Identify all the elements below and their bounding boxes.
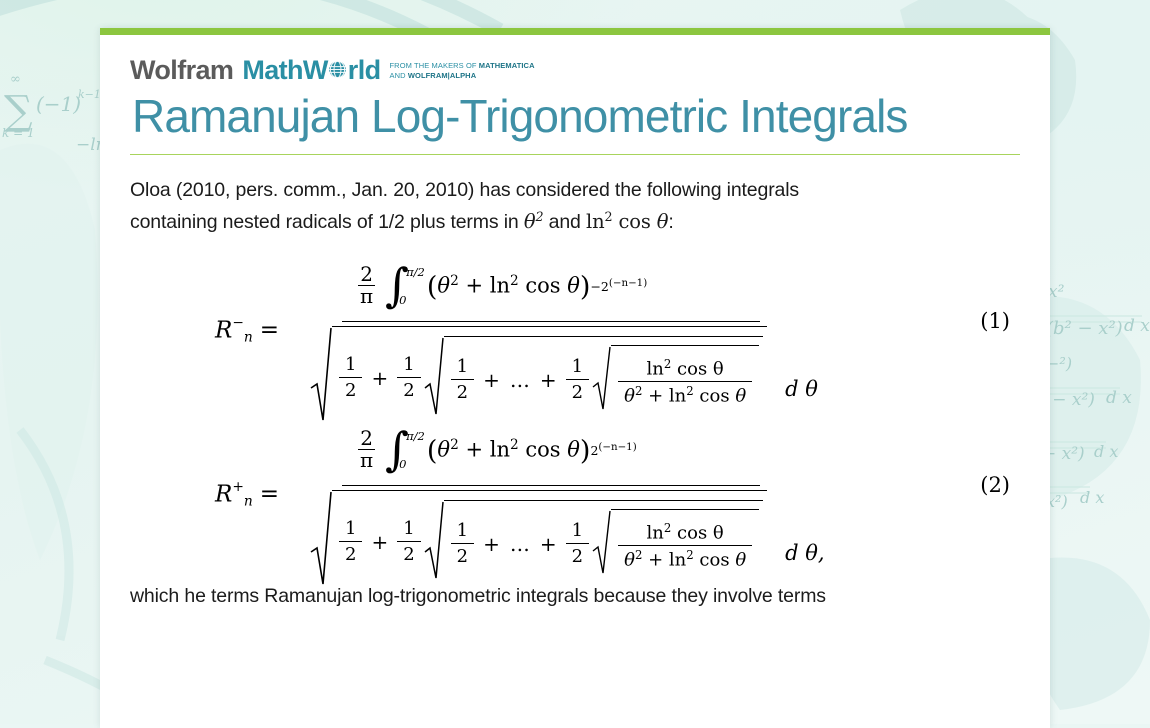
page-title: Ramanujan Log-Trigonometric Integrals <box>132 92 1020 142</box>
background-formula: d x <box>1094 442 1118 461</box>
equation-2-integrand: (θ2 + ln2 cos θ) <box>427 437 591 462</box>
background-formula: ∞ <box>10 72 21 87</box>
equation-2-fraction: 2 π ∫ π/2 0 (θ2 + ln2 cos θ)2(−n−1) <box>310 417 910 590</box>
background-formula: d x <box>1080 488 1104 507</box>
equation-1-subscript: n <box>244 329 253 345</box>
equation-1-prefactor: 2 π <box>358 264 375 307</box>
radical-outer: 12 + 12 <box>310 326 767 426</box>
equation-1-superscript: − <box>232 315 244 331</box>
half-4: 12 <box>566 356 589 403</box>
equation-2-numerator: 2 π ∫ π/2 0 (θ2 + ln2 cos θ)2(−n−1) <box>310 417 910 485</box>
equation-1-upper-limit: π/2 <box>406 265 425 279</box>
equation-2-prefactor: 2 π <box>358 428 375 471</box>
inner-ratio: ln2 cos θ θ2 + ln2 cos θ <box>618 521 752 571</box>
globe-icon <box>328 57 347 84</box>
intro-ln-squared-cos-theta: ln2 cos θ <box>586 210 668 233</box>
radical-sign-icon <box>424 336 444 420</box>
plus-2: + <box>483 532 500 556</box>
background-formula: k = 1 <box>2 126 35 140</box>
half-1: 12 <box>339 518 362 565</box>
background-formula: d x <box>1106 388 1132 408</box>
equation-2-superscript: + <box>232 479 244 495</box>
radical-middle: 12 + … + 12 <box>424 336 763 420</box>
intro-line-2-text-b: and <box>543 211 586 233</box>
equation-2-denominator: 12 + 12 <box>310 486 910 590</box>
intro-paragraph: Oloa (2010, pers. comm., Jan. 20, 2010) … <box>130 175 1020 239</box>
equation-1-exponent: −2(−n−1) <box>590 277 647 294</box>
plus-1: + <box>371 366 388 390</box>
equation-1-numerator: 2 π ∫ π/2 0 (θ2 + ln2 cos θ)−2(−n−1) <box>310 253 910 321</box>
tagline-line-1: From the makers of Mathematica <box>390 61 535 70</box>
inner-ratio: ln2 cos θ θ2 + ln2 cos θ <box>618 357 752 407</box>
radical-sign-icon <box>592 345 611 415</box>
half-1: 12 <box>339 354 362 401</box>
equation-1-integrand: (θ2 + ln2 cos θ) <box>427 273 591 298</box>
radical-sign-icon <box>592 509 611 579</box>
intro-line-2: containing nested radicals of 1/2 plus t… <box>130 206 1020 239</box>
equation-1-lower-limit: 0 <box>399 293 425 307</box>
wolfram-mathworld-logo[interactable]: Wolfram Math W rld From <box>130 35 1020 84</box>
background-formula: (b² − x²) <box>1046 318 1123 339</box>
equation-2-upper-limit: π/2 <box>406 429 425 443</box>
equation-1-nested-radical: 12 + 12 <box>310 326 910 426</box>
equation-2: R+n= 2 π ∫ π/2 0 (θ <box>130 417 1020 567</box>
plus-3: + <box>540 532 557 556</box>
half-2: 12 <box>397 354 420 401</box>
equation-2-lhs: R+n= <box>215 479 279 509</box>
ellipsis: … <box>510 532 530 556</box>
half-3: 12 <box>451 520 474 567</box>
equation-2-number: (2) <box>980 473 1010 497</box>
background-formula: x² <box>1048 282 1064 302</box>
equation-1-integral: ∫ π/2 0 <box>385 263 425 309</box>
radical-middle: 12 + … + 12 <box>424 500 763 584</box>
content-page: Wolfram Math W rld From <box>100 28 1050 728</box>
equation-2-integral: ∫ π/2 0 <box>385 427 425 473</box>
inner-ratio-numerator: ln2 cos θ <box>641 357 730 381</box>
background-formula: d x <box>1124 316 1150 336</box>
equation-2-exponent: 2(−n−1) <box>590 441 636 458</box>
ellipsis: … <box>510 368 530 392</box>
plus-1: + <box>371 530 388 554</box>
logo-math-text: Math <box>242 57 303 84</box>
inner-ratio-denominator: θ2 + ln2 cos θ <box>618 546 752 570</box>
radical-outer: 12 + 12 <box>310 490 767 590</box>
equation-1-number: (1) <box>980 309 1010 333</box>
logo-w-letter: W <box>303 57 328 84</box>
logo-wolfram-text: Wolfram <box>130 57 233 84</box>
intro-colon: : <box>668 211 673 233</box>
inner-ratio-denominator: θ2 + ln2 cos θ <box>618 382 752 406</box>
equation-1-equals: = <box>260 317 279 343</box>
tagline-line-2: and Wolfram|Alpha <box>390 71 477 80</box>
equation-1: R−n= 2 π ∫ π/2 0 (θ <box>130 253 1020 403</box>
equation-2-differential: d θ, <box>785 515 824 565</box>
radical-inner: ln2 cos θ θ2 + ln2 cos θ <box>592 509 759 579</box>
logo-mathworld-text: Math W rld <box>242 57 380 84</box>
plus-2: + <box>483 368 500 392</box>
radical-sign-icon <box>310 326 332 426</box>
equation-2-lower-limit: 0 <box>399 457 425 471</box>
radical-sign-icon <box>310 490 332 590</box>
half-3: 12 <box>451 356 474 403</box>
equation-2-equals: = <box>260 481 279 507</box>
background-formula: k−1 <box>78 88 101 101</box>
inner-ratio-numerator: ln2 cos θ <box>641 521 730 545</box>
equation-1-denominator: 12 + 12 <box>310 322 910 426</box>
equation-1-lhs: R−n= <box>215 315 279 345</box>
half-2: 12 <box>397 518 420 565</box>
plus-3: + <box>540 368 557 392</box>
equation-2-R: R <box>215 481 232 507</box>
equation-1-R: R <box>215 317 232 343</box>
radical-inner: ln2 cos θ θ2 + ln2 cos θ <box>592 345 759 415</box>
radical-sign-icon <box>424 500 444 584</box>
equation-2-nested-radical: 12 + 12 <box>310 490 910 590</box>
equation-1-fraction: 2 π ∫ π/2 0 (θ2 + ln2 cos θ)−2(−n−1) <box>310 253 910 426</box>
logo-tagline: From the makers of Mathematica and Wolfr… <box>390 61 535 81</box>
intro-line-1: Oloa (2010, pers. comm., Jan. 20, 2010) … <box>130 175 1020 207</box>
equation-2-subscript: n <box>244 493 253 509</box>
intro-line-2-text-a: containing nested radicals of 1/2 plus t… <box>130 211 524 233</box>
logo-rld-text: rld <box>348 57 381 84</box>
background-formula: (−1) <box>36 92 81 116</box>
half-4: 12 <box>566 520 589 567</box>
equation-1-differential: d θ <box>785 351 818 401</box>
intro-theta-symbol: θ2 <box>524 210 544 233</box>
title-divider <box>130 154 1020 155</box>
